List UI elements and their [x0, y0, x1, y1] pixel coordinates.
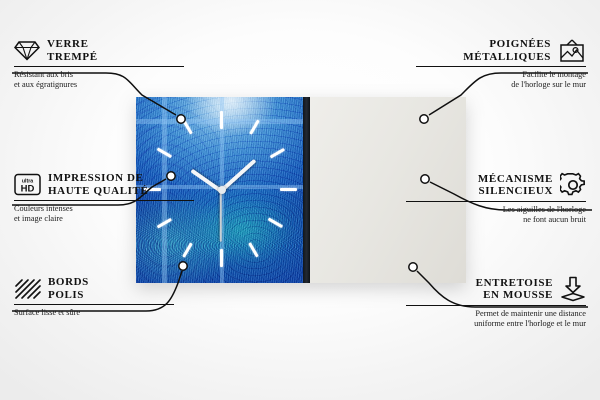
- ultra-hd-icon: ultra HD: [14, 173, 41, 196]
- clock-tick: [280, 188, 297, 191]
- feature-title-line2: TREMPÉ: [47, 51, 98, 64]
- feature-header: BORDS POLIS: [14, 276, 174, 301]
- feature-divider: [14, 200, 194, 201]
- feature-divider: [14, 304, 174, 305]
- feature-desc-line1: Facilite le montage: [416, 70, 586, 80]
- feature-title-line1: POIGNÉES: [463, 38, 551, 51]
- feature-title-line2: HAUTE QUALITÉ: [48, 185, 148, 198]
- diagonal-lines-icon: [14, 278, 41, 300]
- feature-desc-line1: Permet de maintenir une distance: [406, 309, 586, 319]
- clock-tick: [220, 249, 223, 267]
- feature-silent-mechanism: MÉCANISME SILENCIEUX Les aiguilles de l'…: [406, 172, 586, 225]
- feature-title-line2: POLIS: [48, 289, 89, 302]
- feature-desc-line1: Les aiguilles de l'horloge: [406, 205, 586, 215]
- feature-title-line2: MÉTALLIQUES: [463, 51, 551, 64]
- feature-desc-line2: et aux égratignures: [14, 80, 184, 90]
- infographic-canvas: VERRE TREMPÉ Résistant aux bris et aux é…: [0, 0, 600, 400]
- feature-title-line1: ENTRETOISE: [476, 277, 553, 290]
- feature-title-line2: SILENCIEUX: [478, 185, 553, 198]
- feature-high-quality-print: ultra HD IMPRESSION DE HAUTE QUALITÉ Cou…: [14, 172, 194, 224]
- feature-tempered-glass: VERRE TREMPÉ Résistant aux bris et aux é…: [14, 38, 184, 90]
- feature-metal-handles: POIGNÉES MÉTALLIQUES Facilite le montage…: [416, 38, 586, 90]
- feature-polished-edges: BORDS POLIS Surface lisse et sûre: [14, 276, 174, 318]
- feature-desc-line2: et image claire: [14, 214, 194, 224]
- feature-divider: [14, 66, 184, 67]
- clock-hand-cap: [218, 186, 226, 194]
- down-arrow-pad-icon: [560, 276, 586, 302]
- feature-header: MÉCANISME SILENCIEUX: [406, 172, 586, 198]
- feature-divider: [406, 201, 586, 202]
- hanging-frame-icon: [558, 39, 586, 63]
- clock-tick: [220, 111, 223, 129]
- feature-title-line1: VERRE: [47, 38, 98, 51]
- feature-header: POIGNÉES MÉTALLIQUES: [416, 38, 586, 63]
- feature-desc-line2: ne font aucun bruit: [406, 215, 586, 225]
- feature-divider: [416, 66, 586, 67]
- feature-desc-line1: Résistant aux bris: [14, 70, 184, 80]
- feature-header: ultra HD IMPRESSION DE HAUTE QUALITÉ: [14, 172, 194, 197]
- feature-desc-line1: Couleurs intenses: [14, 204, 194, 214]
- feature-title-line2: EN MOUSSE: [476, 289, 553, 302]
- svg-text:HD: HD: [21, 184, 35, 195]
- panel-edge: [303, 97, 310, 283]
- feature-title-line1: BORDS: [48, 276, 89, 289]
- gear-icon: [560, 172, 586, 198]
- clock-second-hand: [220, 190, 222, 242]
- feature-desc-line2: uniforme entre l'horloge et le mur: [406, 319, 586, 329]
- feature-title-line1: IMPRESSION DE: [48, 172, 148, 185]
- feature-desc-line1: Surface lisse et sûre: [14, 308, 174, 318]
- feature-foam-spacer: ENTRETOISE EN MOUSSE Permet de maintenir…: [406, 276, 586, 329]
- feature-header: VERRE TREMPÉ: [14, 38, 184, 63]
- feature-title-line1: MÉCANISME: [478, 173, 553, 186]
- feature-divider: [406, 305, 586, 306]
- diamond-icon: [14, 40, 40, 61]
- feature-desc-line2: de l'horloge sur le mur: [416, 80, 586, 90]
- feature-header: ENTRETOISE EN MOUSSE: [406, 276, 586, 302]
